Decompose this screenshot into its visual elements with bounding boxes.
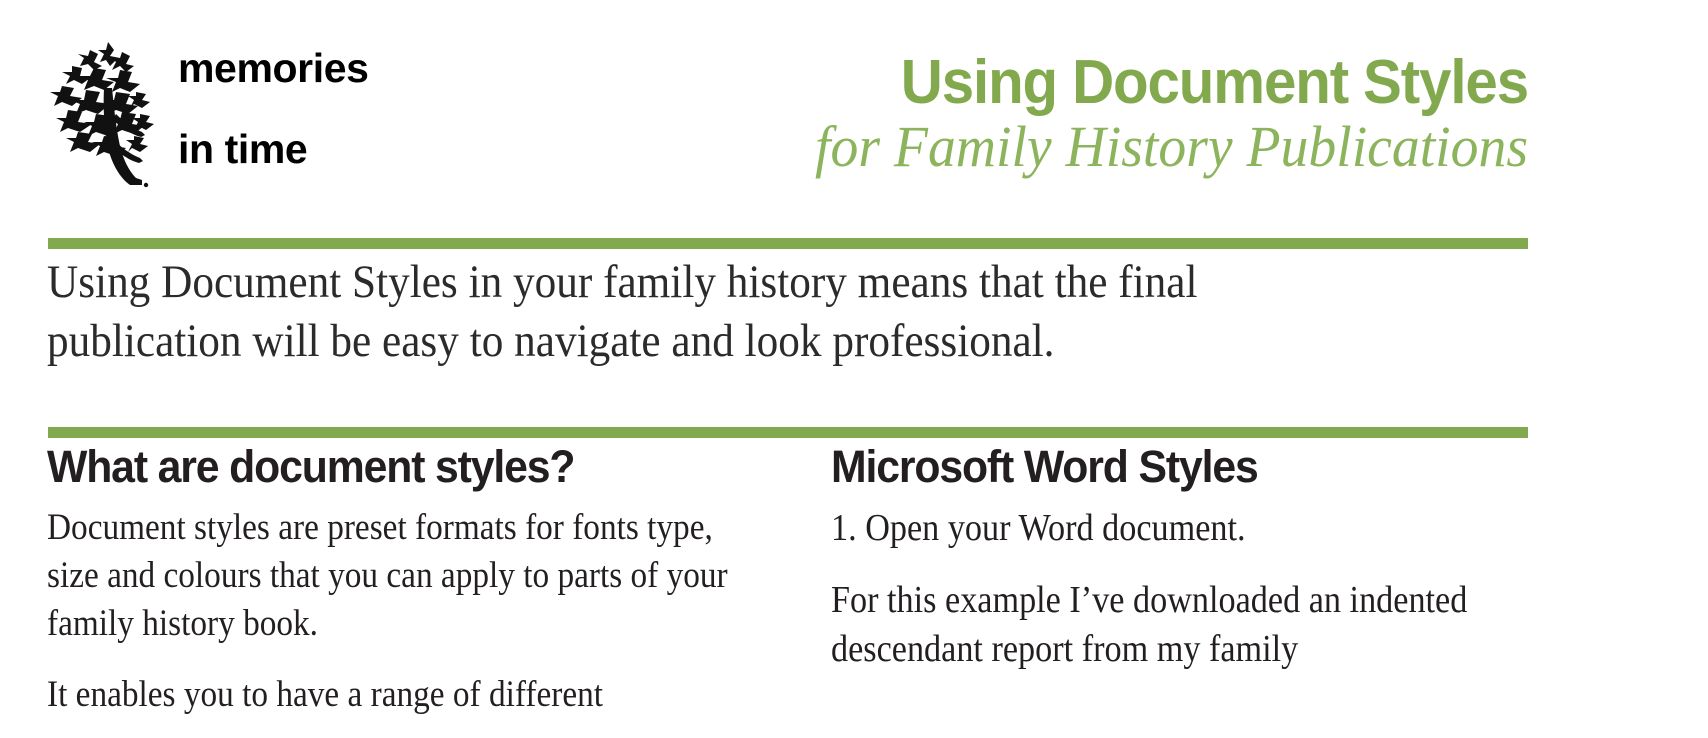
- column-left-paragraph-1: Document styles are preset formats for f…: [47, 504, 731, 648]
- title-block: Using Document Styles for Family History…: [528, 52, 1528, 179]
- brand-logo: memories in time: [50, 32, 410, 192]
- tree-silhouette-icon: [50, 36, 168, 188]
- page-header: memories in time Using Document Styles f…: [0, 0, 1708, 238]
- column-microsoft-word-styles: Microsoft Word Styles 1. Open your Word …: [831, 443, 1551, 696]
- column-heading-left: What are document styles?: [47, 443, 798, 490]
- column-right-paragraph-2: For this example I’ve downloaded an inde…: [831, 576, 1479, 675]
- page-title: Using Document Styles: [588, 52, 1528, 114]
- brand-wordmark-line-2: in time: [178, 129, 369, 170]
- divider-rule-top: [48, 238, 1528, 249]
- content-columns: What are document styles? Document style…: [0, 443, 1708, 738]
- divider-rule-bottom: [48, 427, 1528, 438]
- brand-wordmark: memories in time: [178, 8, 369, 217]
- column-left-paragraph-2: It enables you to have a range of differ…: [47, 671, 731, 719]
- column-what-are-document-styles: What are document styles? Document style…: [47, 443, 837, 738]
- intro-paragraph: Using Document Styles in your family his…: [47, 253, 1353, 371]
- document-page: memories in time Using Document Styles f…: [0, 0, 1708, 738]
- page-subtitle: for Family History Publications: [568, 116, 1528, 179]
- brand-wordmark-line-1: memories: [178, 48, 369, 89]
- column-heading-right: Microsoft Word Styles: [831, 443, 1515, 490]
- column-right-step-1: 1. Open your Word document.: [831, 504, 1479, 553]
